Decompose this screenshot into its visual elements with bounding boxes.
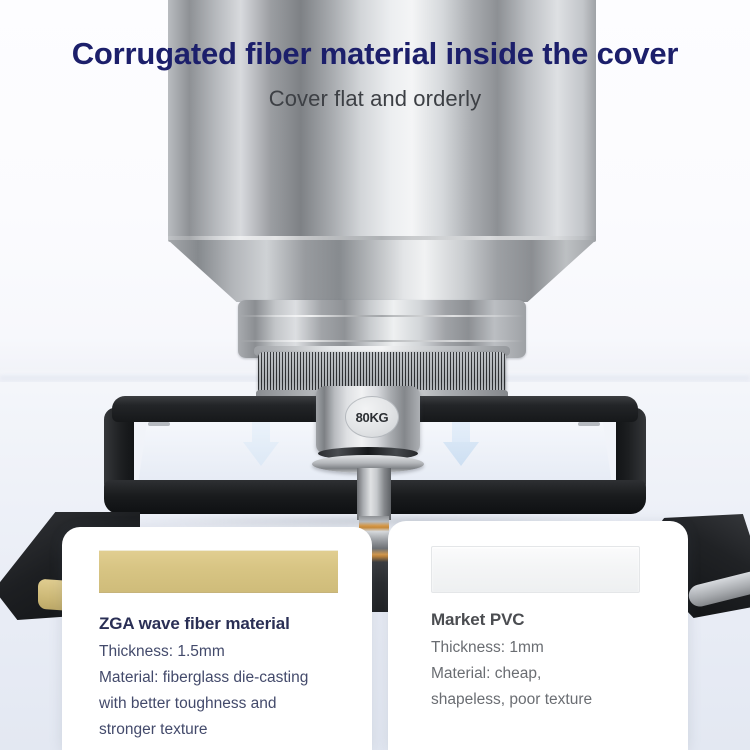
spec-card-zga-body: Thickness: 1.5mm Material: fiberglass di… bbox=[99, 639, 361, 743]
white-swatch bbox=[431, 546, 640, 593]
spec-line: Material: fiberglass die-casting bbox=[99, 665, 361, 691]
press-shoulder bbox=[168, 240, 596, 302]
spec-line: Thickness: 1mm bbox=[431, 635, 661, 661]
page-title: Corrugated fiber material inside the cov… bbox=[0, 36, 750, 72]
spec-line: stronger texture bbox=[99, 717, 361, 743]
gold-swatch bbox=[99, 550, 338, 593]
spec-card-zga-title: ZGA wave fiber material bbox=[99, 614, 290, 634]
weight-badge: 80KG bbox=[345, 396, 399, 438]
spec-line: Material: cheap, bbox=[431, 661, 661, 687]
weight-badge-label: 80KG bbox=[356, 410, 389, 425]
spec-card-pvc: Market PVC Thickness: 1mm Material: chea… bbox=[388, 521, 688, 750]
product-marketing-image: 80KG ZGA wave fiber material Thickness: … bbox=[0, 0, 750, 750]
spec-line: Thickness: 1.5mm bbox=[99, 639, 361, 665]
spec-card-zga: ZGA wave fiber material Thickness: 1.5mm… bbox=[62, 527, 372, 750]
press-rod-upper bbox=[357, 468, 391, 520]
page-subtitle: Cover flat and orderly bbox=[0, 86, 750, 112]
case-notch-right bbox=[578, 422, 600, 426]
spec-card-pvc-body: Thickness: 1mm Material: cheap, shapeles… bbox=[431, 635, 661, 713]
case-notch-left bbox=[148, 422, 170, 426]
spec-line: shapeless, poor texture bbox=[431, 687, 661, 713]
spec-card-pvc-title: Market PVC bbox=[431, 610, 524, 630]
spec-line: with better toughness and bbox=[99, 691, 361, 717]
